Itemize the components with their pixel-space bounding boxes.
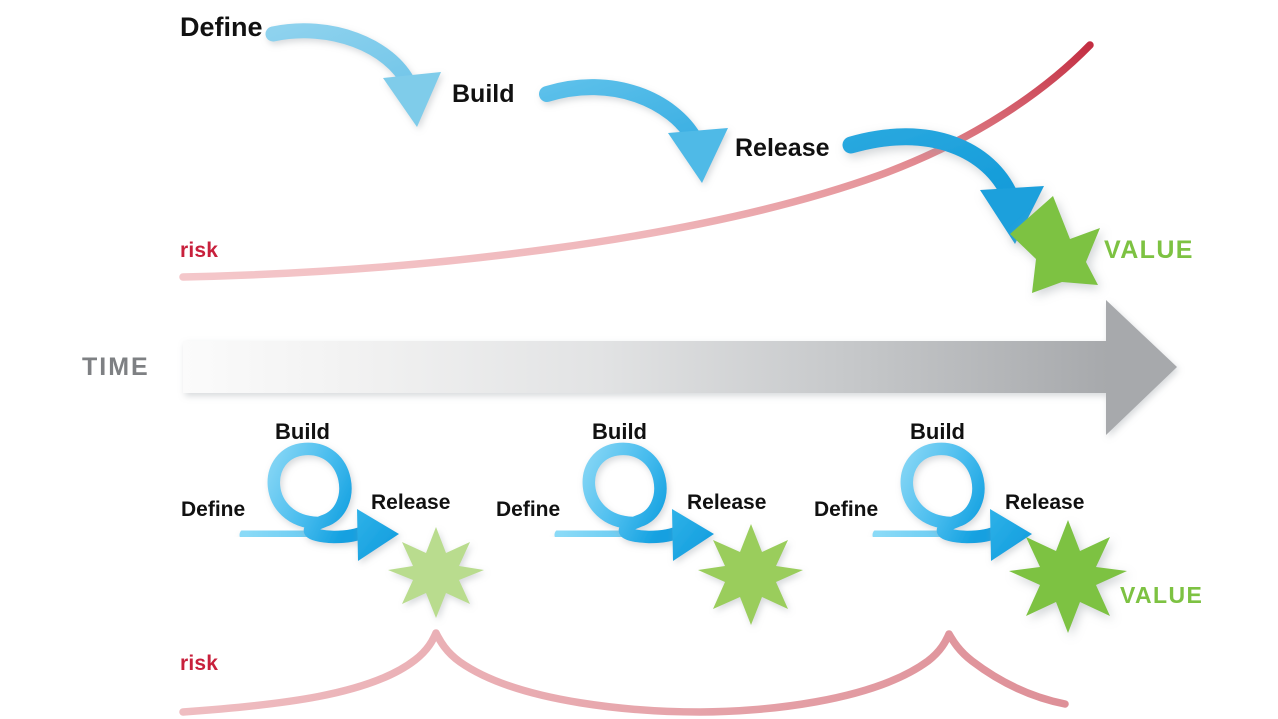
- cycle-3-label-build: Build: [910, 421, 965, 443]
- agile-cycle-2: [561, 449, 803, 625]
- waterfall-label-risk: risk: [180, 240, 218, 261]
- cycle-2-define-tail: [561, 532, 618, 535]
- time-axis-label: TIME: [82, 355, 150, 380]
- cycle-1-build-loop: [274, 449, 366, 537]
- cycle-3-release-arrowhead: [990, 509, 1032, 561]
- cycle-3-define-tail: [879, 532, 936, 535]
- cycle-1-define-tail: [246, 532, 303, 535]
- diagram-canvas: Define Build Release VALUE risk TIME Bui…: [0, 0, 1278, 719]
- diagram-graphics: [0, 0, 1278, 719]
- risk-curve-bottom: [183, 633, 1065, 712]
- cycle-2-label-release: Release: [687, 492, 766, 513]
- time-arrow: [183, 300, 1177, 435]
- cycle-2-label-define: Define: [496, 499, 560, 520]
- agile-cycle-1: [246, 449, 484, 618]
- cycle-3-label-release: Release: [1005, 492, 1084, 513]
- agile-label-value: VALUE: [1120, 584, 1203, 607]
- waterfall-label-value: VALUE: [1104, 238, 1194, 263]
- cycle-2-label-build: Build: [592, 421, 647, 443]
- agile-label-risk: risk: [180, 653, 218, 674]
- cycle-1-release-arrowhead: [357, 509, 399, 561]
- agile-cycle-3: [879, 449, 1127, 633]
- cycle-2-value-star: [698, 524, 803, 625]
- cycle-3-build-loop: [907, 449, 999, 537]
- waterfall-arrow-release-to-value: [851, 137, 1044, 244]
- cycle-2-release-arrowhead: [672, 509, 714, 561]
- waterfall-label-release: Release: [735, 136, 830, 161]
- waterfall-label-define: Define: [180, 14, 263, 41]
- cycle-3-label-define: Define: [814, 499, 878, 520]
- waterfall-arrow-build-to-release: [547, 87, 728, 183]
- risk-curve-top: [183, 45, 1090, 277]
- cycle-1-label-release: Release: [371, 492, 450, 513]
- cycle-1-label-build: Build: [275, 421, 330, 443]
- cycle-1-value-star: [388, 527, 484, 618]
- waterfall-arrow-define-to-build: [273, 31, 441, 127]
- cycle-1-label-define: Define: [181, 499, 245, 520]
- waterfall-label-build: Build: [452, 82, 515, 107]
- cycle-2-build-loop: [589, 449, 681, 537]
